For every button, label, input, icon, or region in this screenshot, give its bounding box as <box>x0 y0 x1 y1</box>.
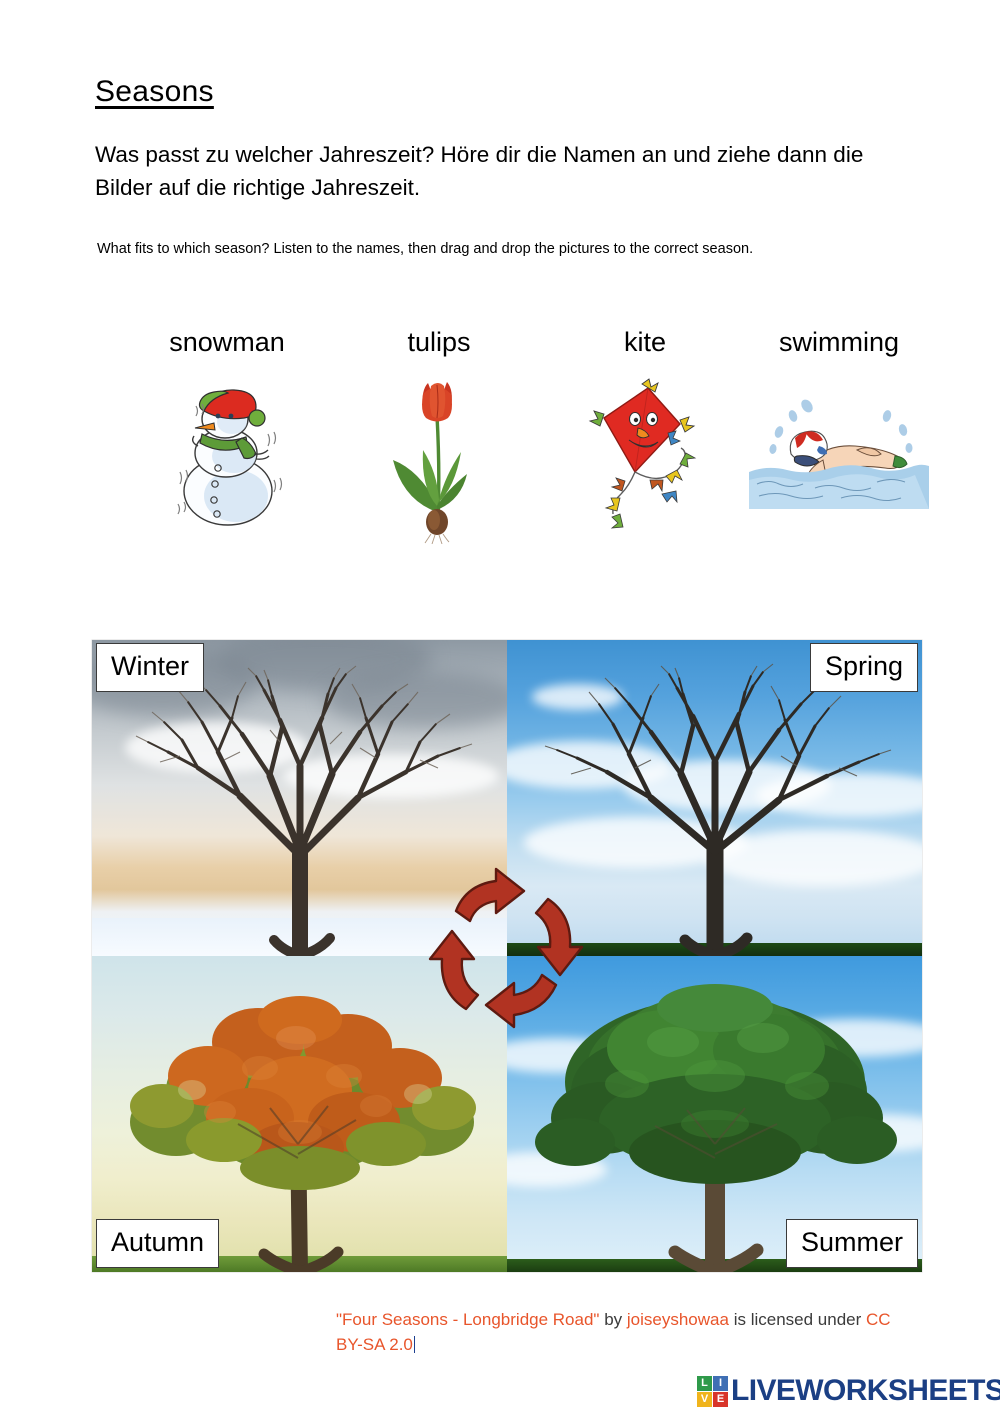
seasons-collage-image[interactable]: Winter <box>92 640 922 1272</box>
vocab-item-swimming[interactable]: swimming <box>704 328 974 509</box>
attribution-author[interactable]: joiseyshowaa <box>627 1310 729 1329</box>
logo-cell-v: V <box>697 1392 712 1407</box>
snowman-icon[interactable] <box>162 376 292 528</box>
attribution-text: "Four Seasons - Longbridge Road" by jois… <box>336 1308 916 1357</box>
attribution-work-title[interactable]: "Four Seasons - Longbridge Road" <box>336 1310 599 1329</box>
attribution-by: by <box>604 1310 622 1329</box>
bare-snowy-tree-icon <box>120 656 480 956</box>
tulip-icon[interactable] <box>387 376 491 544</box>
kite-icon[interactable] <box>580 376 710 531</box>
attribution-under: under <box>818 1310 861 1329</box>
liveworksheets-logo[interactable]: L I V E LIVEWORKSHEETS <box>697 1374 1000 1408</box>
season-label-spring: Spring <box>810 643 918 692</box>
vocab-label-swimming: swimming <box>704 328 974 358</box>
season-label-winter: Winter <box>96 643 204 692</box>
logo-cell-l: L <box>697 1376 712 1391</box>
text-cursor <box>414 1336 415 1353</box>
season-quadrant-winter[interactable]: Winter <box>92 640 507 956</box>
instructions-german: Was passt zu welcher Jahreszeit? Höre di… <box>95 139 875 204</box>
instructions-english: What fits to which season? Listen to the… <box>97 239 857 261</box>
logo-cell-e: E <box>713 1392 728 1407</box>
logo-cell-i: I <box>713 1376 728 1391</box>
worksheet-page: Seasons Was passt zu welcher Jahreszeit?… <box>0 0 1000 1413</box>
season-label-autumn: Autumn <box>96 1219 219 1268</box>
page-title: Seasons <box>95 75 214 108</box>
season-quadrant-summer[interactable]: Summer <box>507 956 922 1272</box>
liveworksheets-wordmark: LIVEWORKSHEETS <box>731 1376 1000 1406</box>
vocabulary-row: snowman <box>92 328 912 558</box>
attribution-licensed: is licensed <box>734 1310 813 1329</box>
season-quadrant-spring[interactable]: Spring <box>507 640 922 956</box>
season-label-summer: Summer <box>786 1219 918 1268</box>
bare-budding-tree-icon <box>535 656 895 956</box>
swimming-icon[interactable] <box>749 394 929 509</box>
liveworksheets-mark-icon: L I V E <box>697 1376 728 1407</box>
season-quadrant-autumn[interactable]: Autumn <box>92 956 507 1272</box>
